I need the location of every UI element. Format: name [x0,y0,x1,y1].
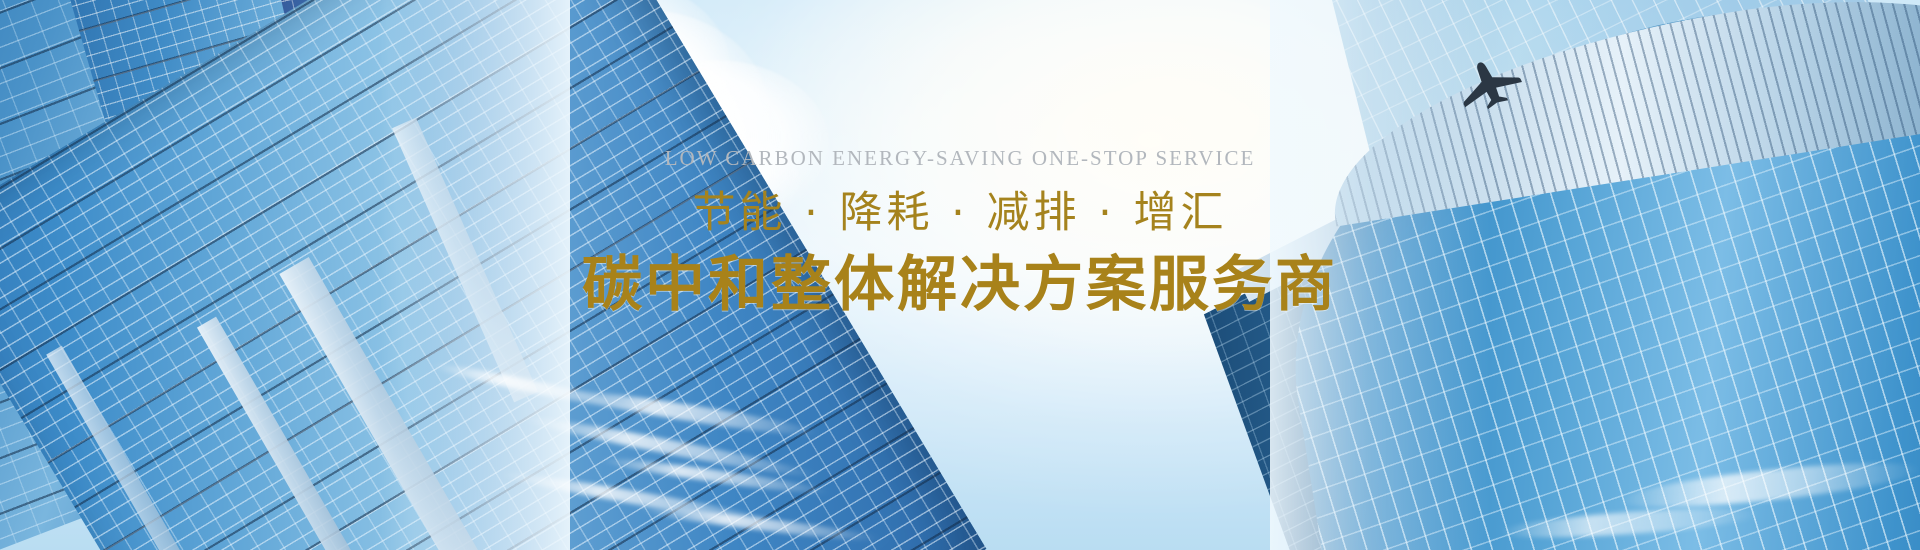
banner-subheadline: 节能 · 降耗 · 减排 · 增汇 [0,191,1920,236]
banner-headline: 碳中和整体解决方案服务商 [0,254,1920,317]
banner-eyebrow: LOW CARBON ENERGY-SAVING ONE-STOP SERVIC… [0,148,1920,169]
airplane-icon [1452,52,1528,112]
hero-banner: LOW CARBON ENERGY-SAVING ONE-STOP SERVIC… [0,0,1920,550]
banner-copy: LOW CARBON ENERGY-SAVING ONE-STOP SERVIC… [0,148,1920,317]
